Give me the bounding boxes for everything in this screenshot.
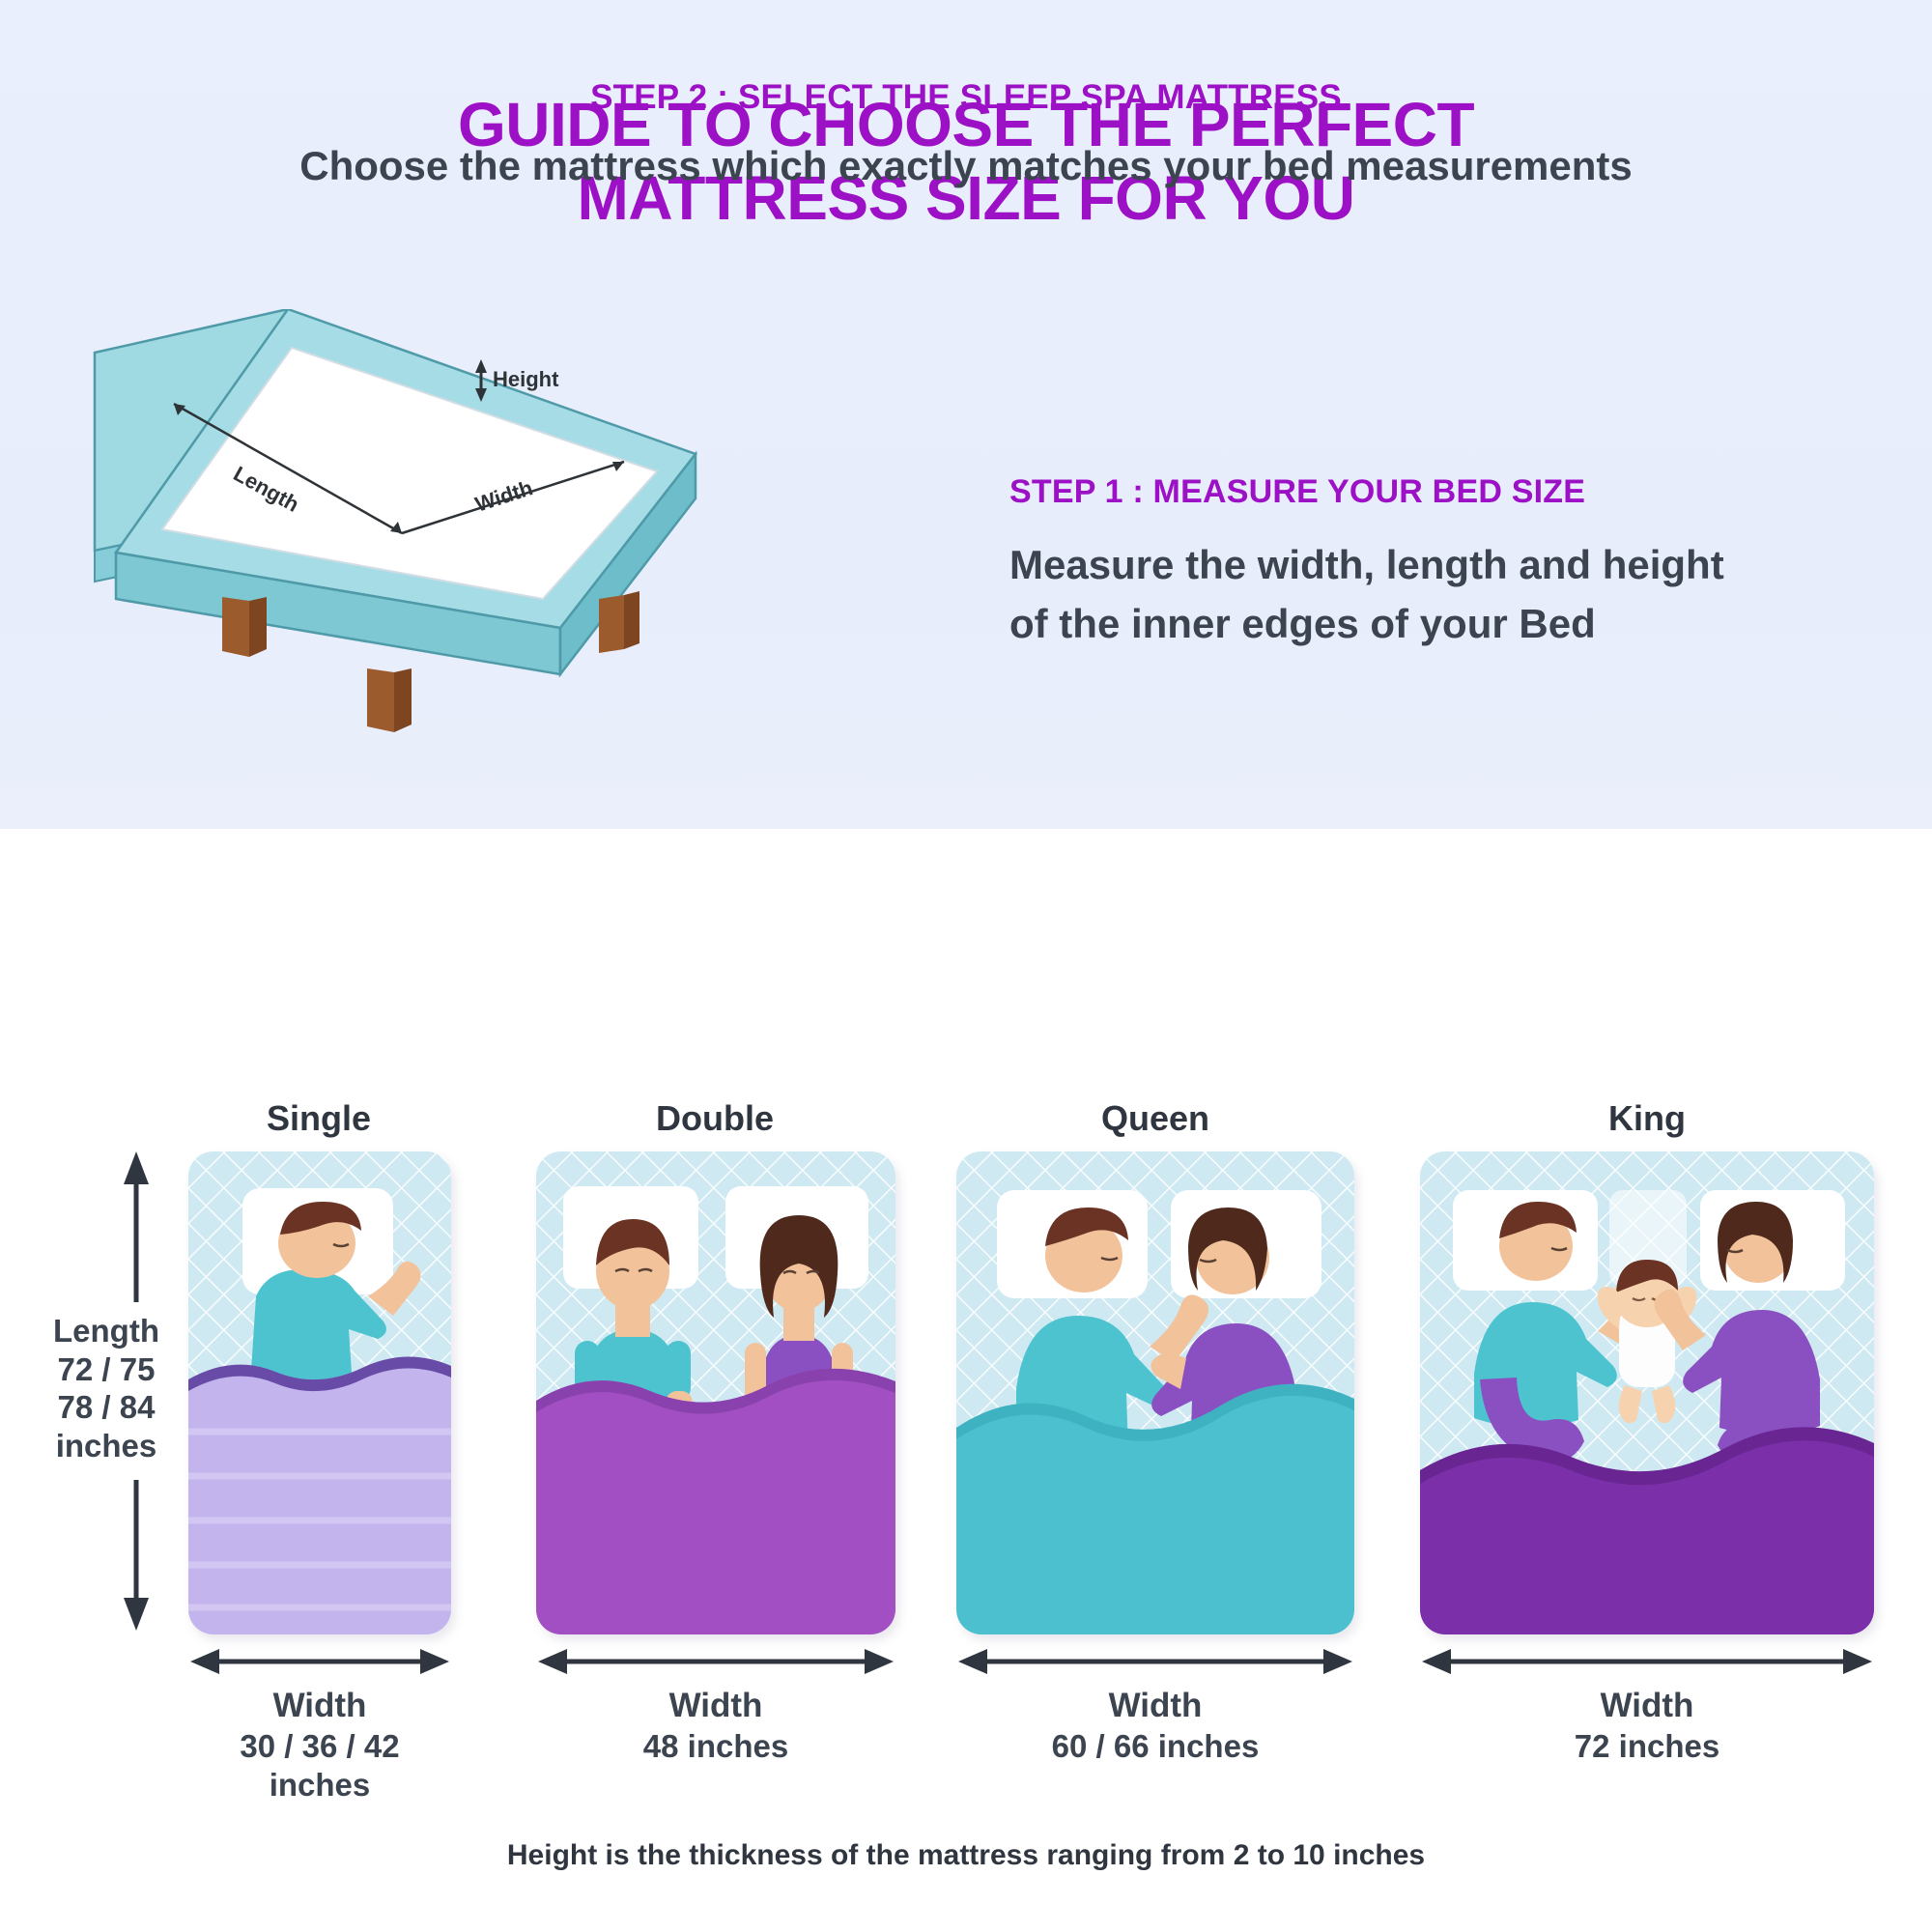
step1-body: Measure the width, length and height of … bbox=[1009, 536, 1879, 654]
bed-height-label: Height bbox=[493, 367, 559, 391]
step1-body-line-1: Measure the width, length and height bbox=[1009, 536, 1879, 595]
step2-subheading: Choose the mattress which exactly matche… bbox=[0, 143, 1932, 189]
blanket-single bbox=[188, 1356, 451, 1634]
width-arrow-king bbox=[1420, 1642, 1874, 1681]
width-value-double: 48 inches bbox=[536, 1727, 895, 1766]
width-value-single: 30 / 36 / 42 bbox=[169, 1727, 470, 1766]
width-value-queen: 60 / 66 inches bbox=[956, 1727, 1354, 1766]
mattress-card-king[interactable] bbox=[1420, 1151, 1874, 1634]
width-value-king: 72 inches bbox=[1420, 1727, 1874, 1766]
width-unit-single: inches bbox=[169, 1766, 470, 1804]
width-title-queen: Width bbox=[956, 1686, 1354, 1727]
width-arrow-queen bbox=[956, 1642, 1354, 1681]
length-value-2: 78 / 84 bbox=[19, 1388, 193, 1427]
size-label-queen: Queen bbox=[956, 1098, 1354, 1139]
width-caption-double: Width 48 inches bbox=[536, 1686, 895, 1766]
width-title-king: Width bbox=[1420, 1686, 1874, 1727]
length-value-1: 72 / 75 bbox=[19, 1350, 193, 1389]
size-label-single: Single bbox=[188, 1098, 449, 1139]
width-arrow-single bbox=[188, 1642, 451, 1681]
width-caption-single: Width 30 / 36 / 42 inches bbox=[169, 1686, 470, 1804]
step1-text-block: STEP 1 : MEASURE YOUR BED SIZE Measure t… bbox=[1009, 473, 1879, 654]
step2-heading: STEP 2 : SELECT THE SLEEP SPA MATTRESS bbox=[0, 78, 1932, 117]
width-caption-queen: Width 60 / 66 inches bbox=[956, 1686, 1354, 1766]
size-label-double: Double bbox=[536, 1098, 894, 1139]
step1-heading: STEP 1 : MEASURE YOUR BED SIZE bbox=[1009, 473, 1879, 511]
mattress-card-single[interactable] bbox=[188, 1151, 451, 1634]
mattress-card-queen[interactable] bbox=[956, 1151, 1354, 1634]
width-arrow-double bbox=[536, 1642, 895, 1681]
blanket-double bbox=[536, 1369, 895, 1634]
bed-illustration: Height Length Width bbox=[77, 309, 753, 811]
width-caption-king: Width 72 inches bbox=[1420, 1686, 1874, 1766]
step1-panel: GUIDE TO CHOOSE THE PERFECT MATTRESS SIZ… bbox=[0, 0, 1932, 829]
length-unit: inches bbox=[19, 1427, 193, 1465]
mattress-card-double[interactable] bbox=[536, 1151, 895, 1634]
footer-note: Height is the thickness of the mattress … bbox=[0, 1839, 1932, 1872]
length-title: Length bbox=[19, 1312, 193, 1350]
infographic-page: GUIDE TO CHOOSE THE PERFECT MATTRESS SIZ… bbox=[0, 0, 1932, 1932]
width-title-single: Width bbox=[169, 1686, 470, 1727]
width-title-double: Width bbox=[536, 1686, 895, 1727]
step1-body-line-2: of the inner edges of your Bed bbox=[1009, 595, 1879, 654]
length-caption: Length 72 / 75 78 / 84 inches bbox=[19, 1312, 193, 1464]
size-label-king: King bbox=[1420, 1098, 1874, 1139]
